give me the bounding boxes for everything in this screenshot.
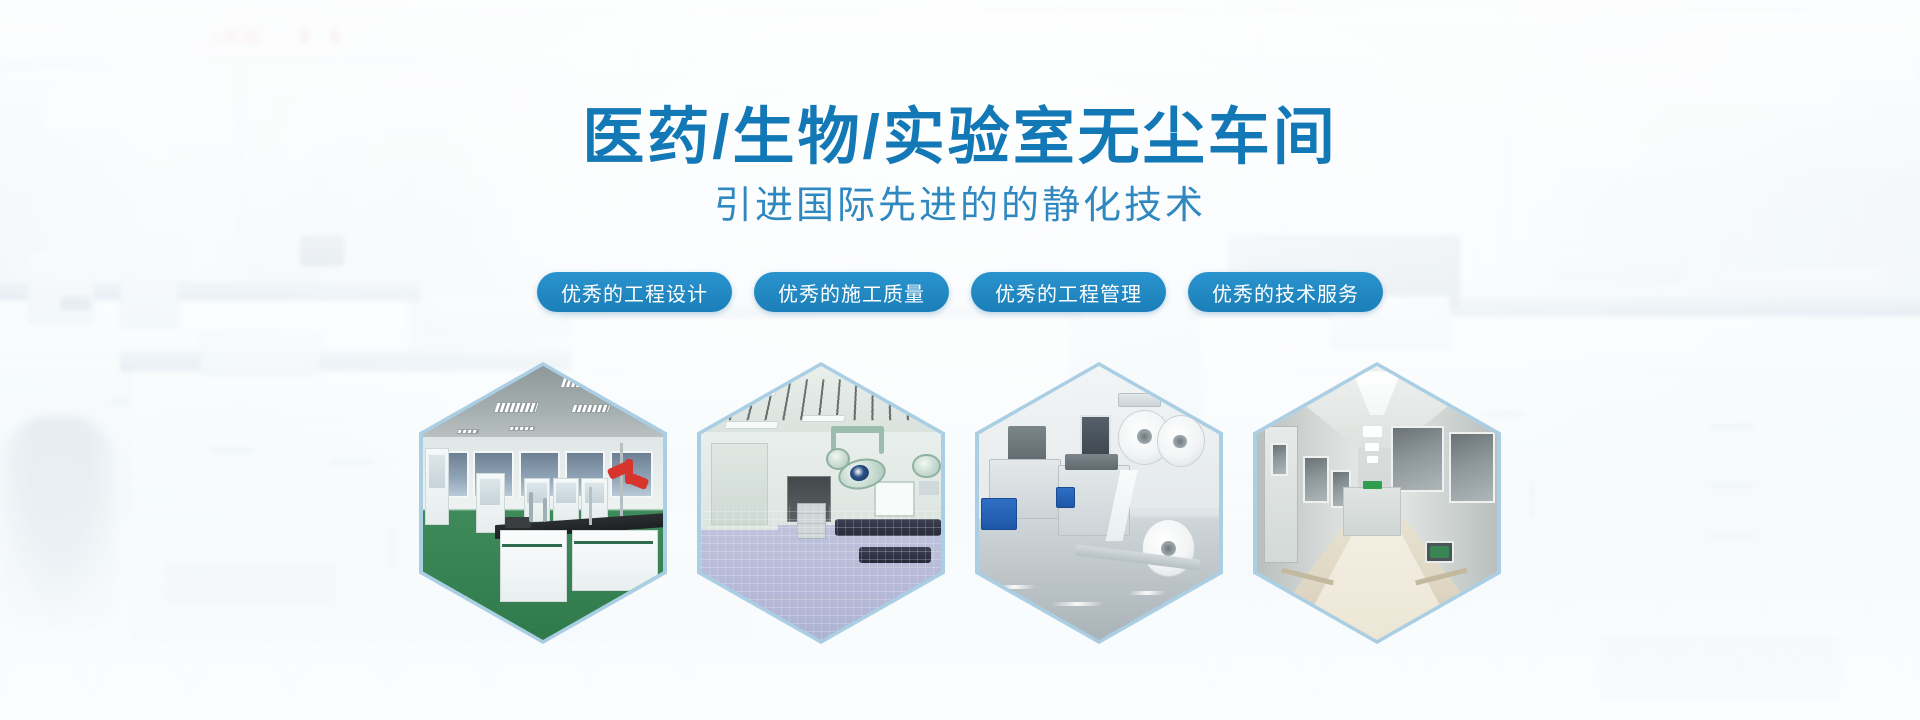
- ceiling-light-panel: [1365, 443, 1379, 451]
- emergency-valve: [625, 459, 633, 484]
- feature-pill-list: 优秀的工程设计 优秀的施工质量 优秀的工程管理 优秀的技术服务: [0, 272, 1920, 312]
- ceiling-lamp: [493, 402, 540, 413]
- ceiling-lamp: [456, 429, 479, 434]
- hexagon-shadow: [716, 638, 926, 654]
- lab-faucet: [529, 492, 533, 522]
- hexagon-image-production-machine-room[interactable]: [975, 362, 1223, 644]
- ceiling-lamp: [509, 426, 537, 431]
- floor-reflection: [992, 585, 1037, 589]
- ceiling-lamp: [570, 404, 611, 413]
- banner-content: 医药/生物/实验室无尘车间 引进国际先进的的静化技术 优秀的工程设计 优秀的施工…: [0, 0, 1920, 720]
- page-subtitle: 引进国际先进的的静化技术: [0, 174, 1920, 229]
- hexagon-shadow: [994, 638, 1204, 654]
- machine-rail: [1065, 454, 1118, 470]
- hexagon-clip: [979, 366, 1219, 640]
- feature-pill-engineering-management[interactable]: 优秀的工程管理: [971, 272, 1166, 312]
- lab-fixture: [589, 487, 592, 525]
- surgical-light-arm: [831, 426, 884, 433]
- hexagon-gallery: [0, 362, 1920, 644]
- cabinet-glass: [584, 482, 606, 504]
- ceiling-lamp: [801, 415, 846, 422]
- hexagon-clip: [423, 366, 663, 640]
- feature-pill-technical-service[interactable]: 优秀的技术服务: [1188, 272, 1383, 312]
- hexagon-clip: [701, 366, 941, 640]
- ceiling-grid: [716, 379, 926, 420]
- scene-laboratory: [423, 366, 663, 640]
- wall-control-panel: [1425, 541, 1454, 563]
- blue-crate: [1056, 487, 1075, 509]
- ceiling-light-panel: [1367, 456, 1378, 463]
- hexagon-image-operating-theatre[interactable]: [697, 362, 945, 644]
- page-title: 医药/生物/实验室无尘车间: [0, 86, 1920, 176]
- roll-hub: [1173, 435, 1186, 449]
- lab-pole: [620, 443, 623, 525]
- hexagon-shadow: [1272, 638, 1482, 654]
- hexagon-shadow: [438, 638, 648, 654]
- roll-shaft: [1118, 393, 1161, 407]
- bench-accent-stripe: [502, 544, 562, 547]
- lab-ceiling: [423, 366, 663, 437]
- feature-pill-construction-quality[interactable]: 优秀的施工质量: [754, 272, 949, 312]
- hexagon-clip: [1257, 366, 1497, 640]
- cabinet-glass: [428, 454, 446, 490]
- feature-pill-engineering-design[interactable]: 优秀的工程设计: [537, 272, 732, 312]
- ceiling-lamp: [724, 421, 779, 429]
- ceiling-light-panel: [1363, 426, 1382, 437]
- banner: 医药/生物/实验室无尘车间 引进国际先进的的静化技术 优秀的工程设计 优秀的施工…: [0, 0, 1920, 720]
- surgical-light-arm: [879, 426, 884, 453]
- cabinet-glass: [479, 478, 501, 505]
- door-viewport: [1271, 443, 1288, 476]
- ceiling-lamp: [714, 382, 780, 396]
- corridor-window: [1303, 456, 1329, 503]
- bench-accent-stripe: [574, 541, 653, 544]
- wall-outlet-strip: [919, 481, 938, 495]
- lab-faucet: [543, 498, 547, 523]
- corridor-end-door: [1343, 487, 1401, 536]
- corridor-window: [1391, 426, 1444, 492]
- floor-reflection: [1050, 602, 1105, 606]
- scene-corridor: [1257, 366, 1497, 640]
- hexagon-image-laboratory-bench-room[interactable]: [419, 362, 667, 644]
- roll-hub: [1137, 429, 1151, 444]
- cabinet-glass: [555, 482, 577, 504]
- lab-bench-body: [572, 530, 658, 590]
- hexagon-image-cleanroom-corridor[interactable]: [1253, 362, 1501, 644]
- exit-sign: [1363, 481, 1382, 489]
- surgical-light-head: [912, 454, 941, 479]
- lab-sink: [505, 517, 531, 528]
- lab-bench-body: [500, 530, 567, 601]
- or-floor: [701, 506, 941, 640]
- blue-crate: [981, 498, 1017, 531]
- ceiling-lamp: [560, 374, 627, 388]
- scene-operating-room: [701, 366, 941, 640]
- scene-machine-room: [979, 366, 1219, 640]
- corridor-window: [1449, 432, 1495, 503]
- floor-reflection: [1127, 591, 1168, 595]
